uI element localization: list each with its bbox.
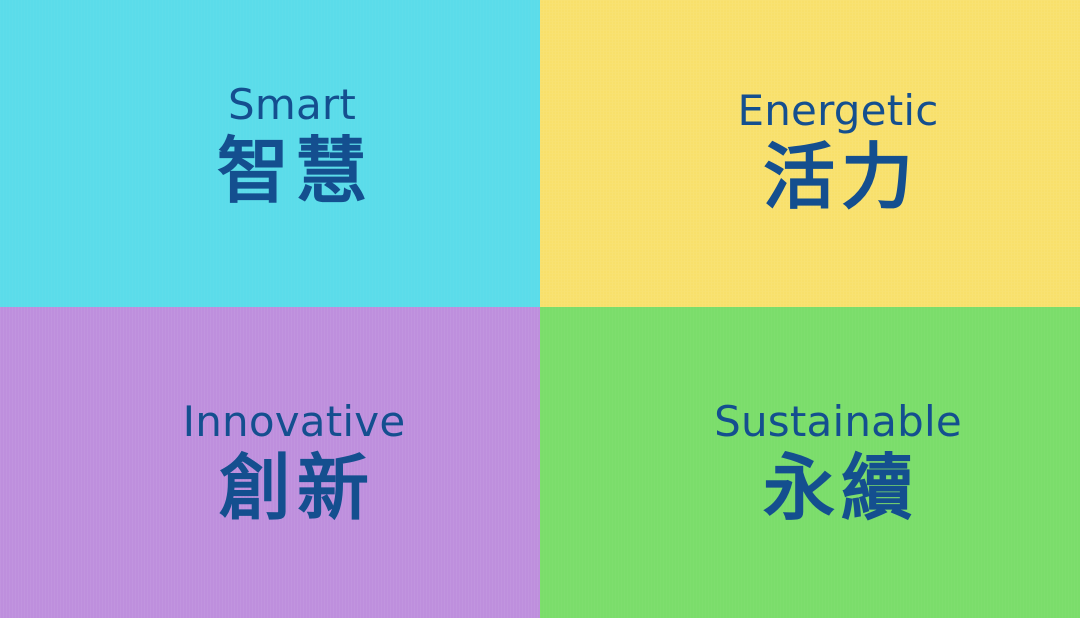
quadrant-sustainable[interactable]: Sustainable 永續 <box>540 307 1080 618</box>
label-block-energetic: Energetic 活力 <box>737 89 938 218</box>
label-zh-smart: 智慧 <box>211 131 373 212</box>
quadrant-smart[interactable]: Smart 智慧 <box>0 0 540 307</box>
label-en-smart: Smart <box>228 83 356 127</box>
brand-values-grid: Smart 智慧 Energetic 活力 Innovative 創新 Sust… <box>0 0 1080 618</box>
quadrant-innovative[interactable]: Innovative 創新 <box>0 307 540 618</box>
label-zh-sustainable: 永續 <box>757 448 919 529</box>
label-block-smart: Smart 智慧 <box>211 83 373 212</box>
label-block-innovative: Innovative 創新 <box>183 400 406 529</box>
label-zh-energetic: 活力 <box>757 137 919 218</box>
label-block-sustainable: Sustainable 永續 <box>714 400 962 529</box>
quadrant-energetic[interactable]: Energetic 活力 <box>540 0 1080 307</box>
label-en-innovative: Innovative <box>183 400 406 444</box>
label-zh-innovative: 創新 <box>213 448 375 529</box>
label-en-energetic: Energetic <box>737 89 938 133</box>
label-en-sustainable: Sustainable <box>714 400 962 444</box>
